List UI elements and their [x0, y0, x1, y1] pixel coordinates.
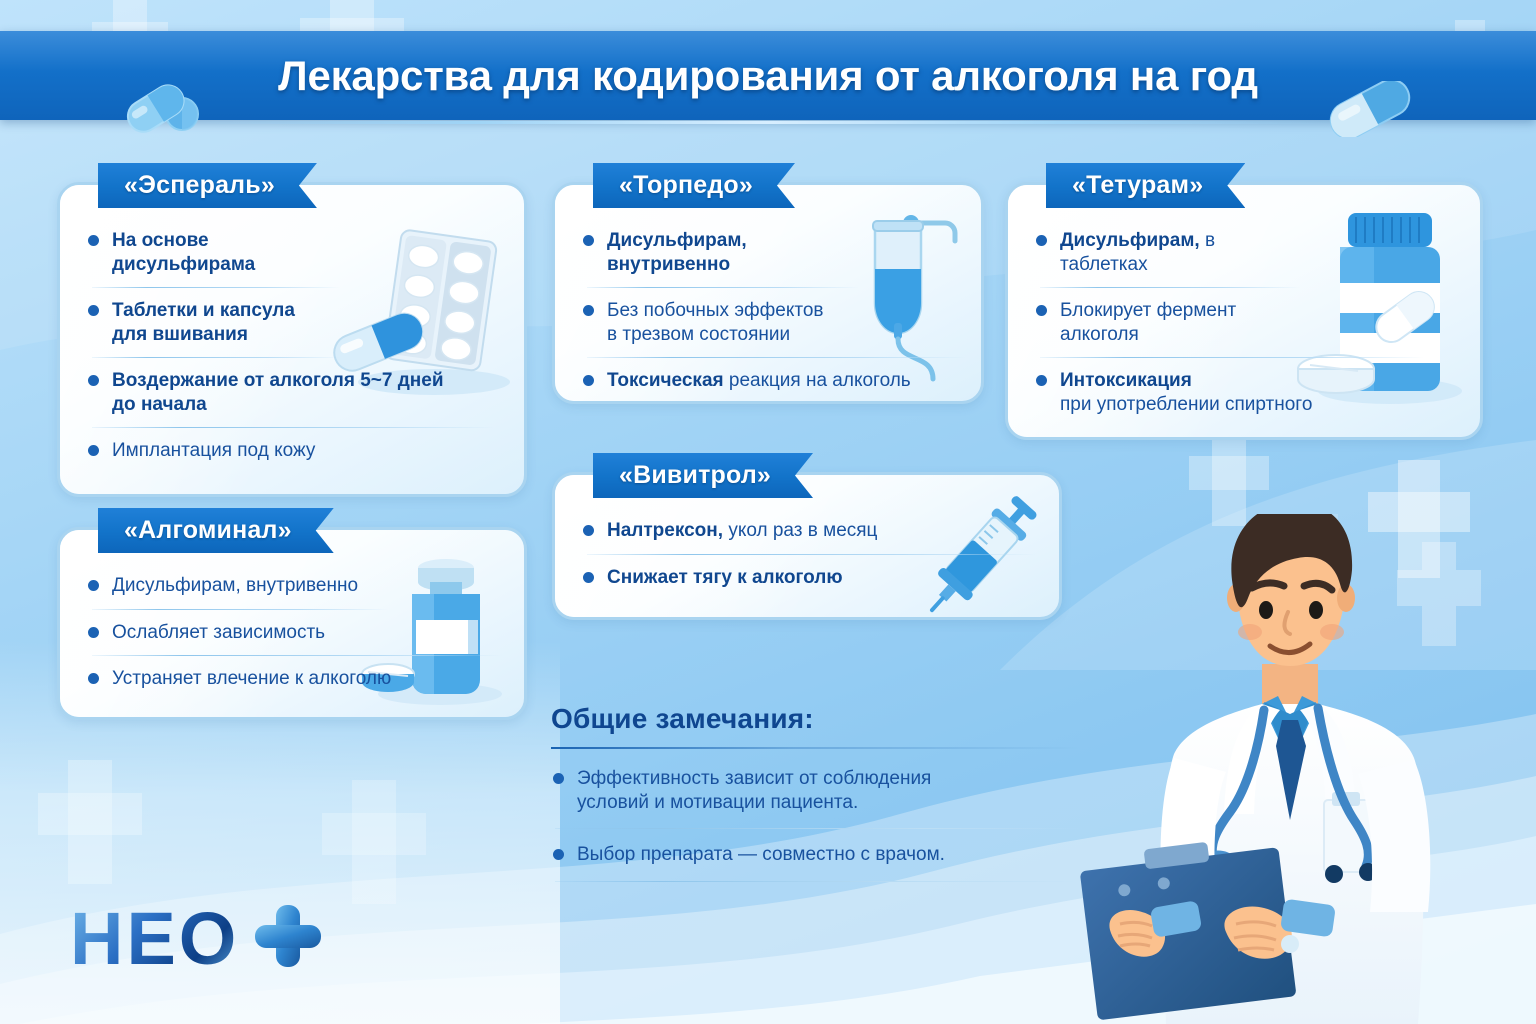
list-item: Блокирует ферменталкоголя [1034, 299, 1304, 346]
bullet-dot [88, 305, 99, 316]
bullet-dot [583, 572, 594, 583]
bullet-list-algominal: Дисульфирам, внутривенно Ослабляет завис… [86, 574, 392, 691]
doctor-with-clipboard-illustration [1066, 514, 1536, 1024]
syringe-icon [893, 481, 1063, 631]
list-item: Токсическая реакция на алкоголь [581, 369, 981, 393]
header-band: Лекарства для кодирования от алкоголя на… [0, 31, 1536, 120]
bullet-dot [88, 627, 99, 638]
divider [555, 881, 1081, 882]
page-title: Лекарства для кодирования от алкоголя на… [0, 52, 1536, 100]
divider [92, 655, 502, 656]
list-item: Таблетки и капсуладля вшивания [86, 299, 344, 346]
bullet-dot [583, 305, 594, 316]
bullet-dot [553, 773, 564, 784]
infographic-canvas: Лекарства для кодирования от алкоголя на… [0, 0, 1536, 1024]
bullet-dot [88, 445, 99, 456]
card-esperal: «Эспераль» [57, 182, 527, 497]
bullet-list-vivitrol: Налтрексон, укол раз в месяц Снижает тяг… [581, 519, 909, 589]
bullet-dot [553, 849, 564, 860]
divider [1040, 287, 1300, 288]
card-title-torpedo: «Торпедо» [593, 163, 795, 208]
card-teturam: «Тетурам» [1005, 182, 1483, 440]
list-item: Без побочных эффектовв трезвом состоянии [581, 299, 863, 346]
bullet-list-torpedo: Дисульфирам, внутривенно Без побочных эф… [581, 229, 863, 393]
bullet-dot [88, 580, 99, 591]
card-algominal: «Алгоминал» Дисульфирам, внутривенно Осл… [57, 527, 527, 720]
divider [555, 828, 1081, 829]
header-underline [178, 121, 1358, 124]
list-item: Дисульфирам, внутривенно [581, 229, 863, 276]
bullet-dot [583, 375, 594, 386]
bullet-list-teturam: Дисульфирам, в таблетках Блокирует ферме… [1034, 229, 1304, 416]
bullet-dot [88, 235, 99, 246]
plus-icon [249, 899, 327, 978]
bullet-dot [1036, 375, 1047, 386]
list-item: Выбор препарата — совместно с врачом. [551, 843, 1081, 867]
brand-logo: НЕО [70, 899, 327, 978]
list-item: Воздержание от алкоголя 5~7 днейдо начал… [86, 369, 516, 416]
list-item: Дисульфирам, в таблетках [1034, 229, 1304, 276]
divider [92, 609, 388, 610]
notes-title-divider [551, 747, 1081, 749]
list-item: Устраняет влечение к алкоголю [86, 667, 486, 691]
bullet-list-esperal: На основе дисульфирама Таблетки и капсул… [86, 229, 344, 463]
divider [92, 427, 494, 428]
divider [1040, 357, 1424, 358]
general-notes-section: Общие замечания: Эффективность зависит о… [551, 703, 1081, 896]
list-item: Дисульфирам, внутривенно [86, 574, 392, 598]
list-item: Ослабляет зависимость [86, 621, 392, 645]
bullet-dot [1036, 305, 1047, 316]
iv-drip-bag-icon [855, 203, 975, 393]
list-item: Интоксикацияпри употреблении спиртного [1034, 369, 1464, 416]
list-item: На основе дисульфирама [86, 229, 344, 276]
card-title-teturam: «Тетурам» [1046, 163, 1245, 208]
list-item: Налтрексон, укол раз в месяц [581, 519, 981, 543]
card-torpedo: «Торпедо» Дисульфирам, внутривенно Без п… [552, 182, 984, 404]
list-item: Эффективность зависит от соблюденияуслов… [551, 767, 1081, 814]
divider [587, 554, 1037, 555]
card-title-esperal: «Эспераль» [98, 163, 317, 208]
bullet-dot [583, 235, 594, 246]
divider [92, 287, 340, 288]
bullet-dot [88, 375, 99, 386]
divider [587, 287, 859, 288]
logo-text: НЕО [70, 902, 239, 976]
bullet-dot [1036, 235, 1047, 246]
bullet-dot [88, 673, 99, 684]
card-title-algominal: «Алгоминал» [98, 508, 334, 553]
list-item: Снижает тягу к алкоголю [581, 566, 909, 590]
divider [587, 357, 967, 358]
list-item: Имплантация под кожу [86, 439, 344, 463]
bullet-dot [583, 525, 594, 536]
card-title-vivitrol: «Вивитрол» [593, 453, 813, 498]
divider [92, 357, 340, 358]
card-vivitrol: «Вивитрол» [552, 472, 1062, 620]
notes-title: Общие замечания: [551, 703, 1081, 735]
